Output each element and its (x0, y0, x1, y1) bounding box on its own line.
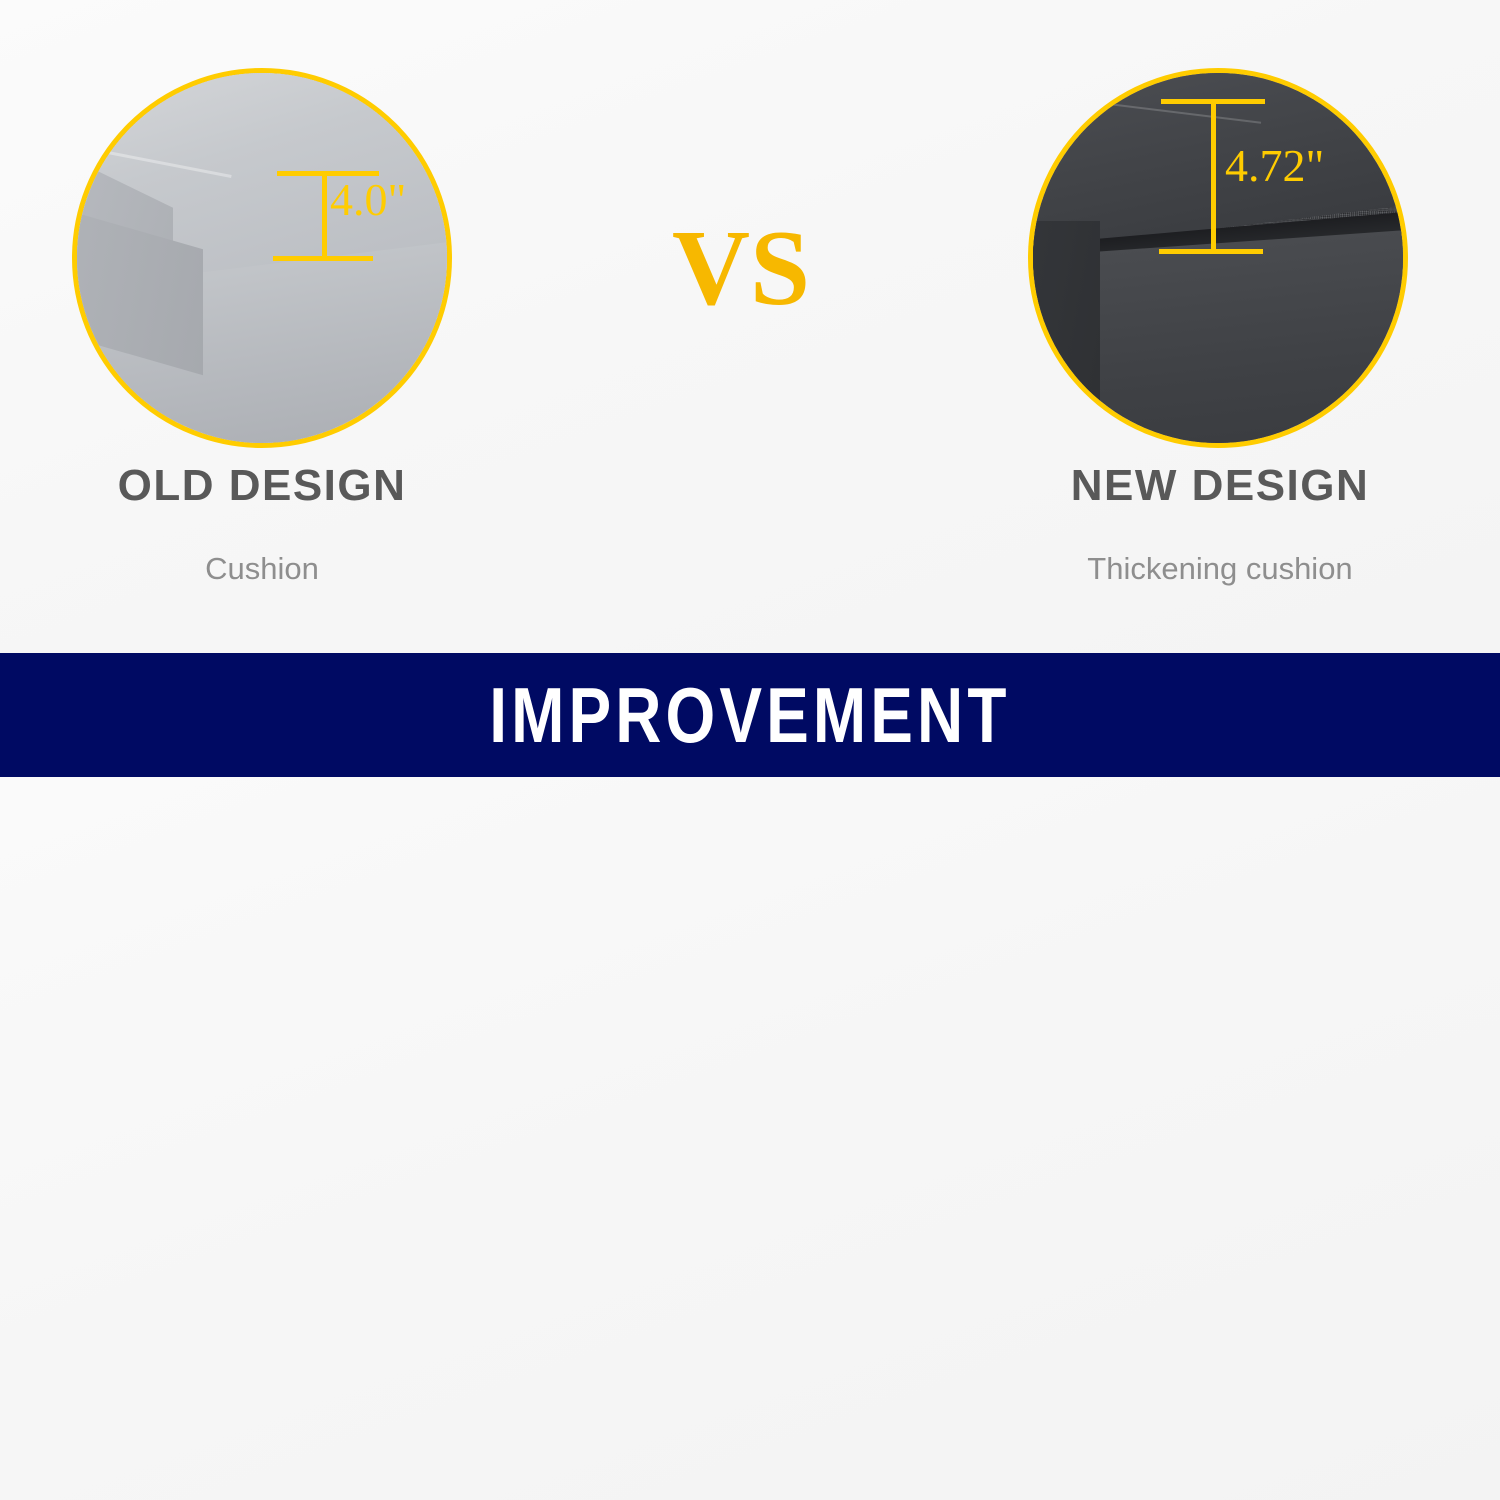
top-comparison-section: 4.0" VS 4.72" OLD DESIGN (0, 0, 1500, 653)
improvement-banner: IMPROVEMENT (0, 653, 1500, 777)
dimension-vertical-line (1211, 99, 1216, 254)
new-design-photo-circle: 4.72" (1028, 68, 1408, 448)
dimension-bottom-cap (273, 256, 373, 261)
old-design-title: OLD DESIGN (2, 462, 522, 510)
old-design-photo-circle: 4.0" (72, 68, 452, 448)
dimension-bottom-cap (1159, 249, 1263, 254)
bottom-comparison-section: VS OLD MATERIAL linen N (0, 777, 1500, 1500)
improvement-banner-title: IMPROVEMENT (489, 676, 1010, 754)
new-dimension-label: 4.72" (1225, 143, 1324, 189)
old-cushion-fabric (77, 73, 447, 443)
new-design-caption: NEW DESIGN Thickening cushion (980, 462, 1460, 590)
new-cushion-fabric (1033, 73, 1403, 443)
infographic-canvas: 4.0" VS 4.72" OLD DESIGN (0, 0, 1500, 1500)
old-design-subtitle: Cushion (2, 548, 522, 590)
vs-label-top: VS (672, 215, 810, 323)
new-design-title: NEW DESIGN (980, 462, 1460, 510)
arm-side-panel (1028, 221, 1100, 448)
dimension-vertical-line (322, 171, 327, 261)
new-design-subtitle: Thickening cushion (980, 548, 1460, 590)
old-dimension-label: 4.0" (330, 177, 406, 223)
old-design-caption: OLD DESIGN Cushion (2, 462, 522, 590)
